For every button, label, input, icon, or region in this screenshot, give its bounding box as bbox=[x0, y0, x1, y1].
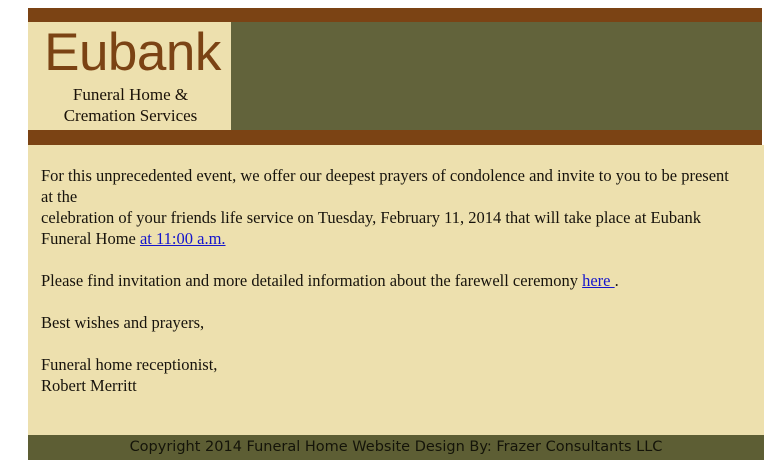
paragraph-invitation: For this unprecedented event, we offer o… bbox=[41, 165, 764, 249]
paragraph-spacer-2 bbox=[41, 291, 764, 312]
paragraph-more-info-prefix: Please find invitation and more detailed… bbox=[41, 271, 582, 290]
footer-copyright: Copyright 2014 Funeral Home Website Desi… bbox=[28, 435, 764, 460]
logo-tagline-line-1: Funeral Home & bbox=[30, 84, 231, 105]
header-bottom-rule bbox=[28, 130, 762, 145]
header-top-rule bbox=[28, 8, 762, 22]
signature-role: Funeral home receptionist, bbox=[41, 354, 764, 375]
paragraph-invitation-line-4: Funeral Home at 11:00 a.m. bbox=[41, 228, 764, 249]
here-link[interactable]: here bbox=[582, 271, 615, 290]
page-root: Eubank Funeral Home & Cremation Services… bbox=[0, 0, 768, 472]
logo-wordmark: Eubank bbox=[34, 23, 231, 83]
site-logo[interactable]: Eubank Funeral Home & Cremation Services bbox=[28, 22, 231, 130]
signature-name: Robert Merritt bbox=[41, 375, 764, 396]
letter-body: For this unprecedented event, we offer o… bbox=[41, 165, 764, 396]
site-footer: Copyright 2014 Funeral Home Website Desi… bbox=[28, 435, 764, 460]
paragraph-more-info-suffix: . bbox=[615, 271, 619, 290]
paragraph-spacer-1 bbox=[41, 249, 764, 270]
service-time-link[interactable]: at 11:00 a.m. bbox=[140, 229, 226, 248]
paragraph-invitation-line-3: celebration of your friends life service… bbox=[41, 207, 764, 228]
paragraph-invitation-line-2: at the bbox=[41, 186, 764, 207]
paragraph-more-info: Please find invitation and more detailed… bbox=[41, 270, 764, 291]
paragraph-spacer-3 bbox=[41, 333, 764, 354]
paragraph-invitation-line-4-prefix: Funeral Home bbox=[41, 229, 140, 248]
logo-tagline: Funeral Home & Cremation Services bbox=[30, 84, 231, 126]
logo-tagline-line-2: Cremation Services bbox=[30, 105, 231, 126]
paragraph-best-wishes: Best wishes and prayers, bbox=[41, 312, 764, 333]
paragraph-invitation-line-1: For this unprecedented event, we offer o… bbox=[41, 165, 764, 186]
main-content-panel: For this unprecedented event, we offer o… bbox=[28, 145, 764, 435]
signature-block: Funeral home receptionist, Robert Merrit… bbox=[41, 354, 764, 396]
